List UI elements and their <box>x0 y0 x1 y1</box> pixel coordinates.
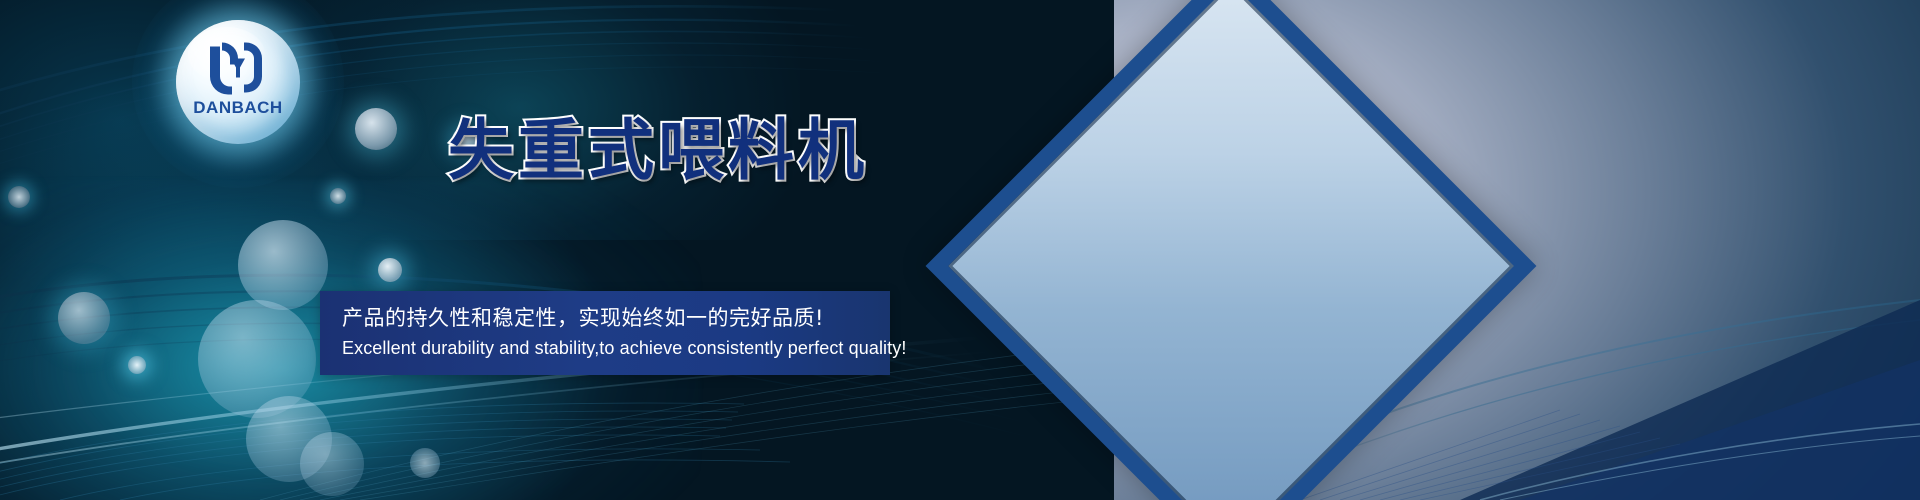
diamond-frame-inner-edge <box>948 0 1514 500</box>
brand-name-text: DANBACH <box>176 98 300 118</box>
product-showcase <box>895 0 1535 500</box>
subtitle-english: Excellent durability and stability,to ac… <box>342 338 906 359</box>
promotional-banner: DANBACH 失重式喂料机 产品的持久性和稳定性，实现始终如一的完好品质! E… <box>0 0 1920 500</box>
diamond-frame <box>926 0 1537 500</box>
subtitle-panel: 产品的持久性和稳定性，实现始终如一的完好品质! Excellent durabi… <box>320 291 890 375</box>
subtitle-chinese: 产品的持久性和稳定性，实现始终如一的完好品质! <box>342 302 824 332</box>
page-title: 失重式喂料机 <box>448 118 868 184</box>
brand-logo[interactable]: DANBACH <box>176 20 300 144</box>
danbach-emblem-icon <box>202 40 274 99</box>
logo-sphere: DANBACH <box>176 20 300 144</box>
